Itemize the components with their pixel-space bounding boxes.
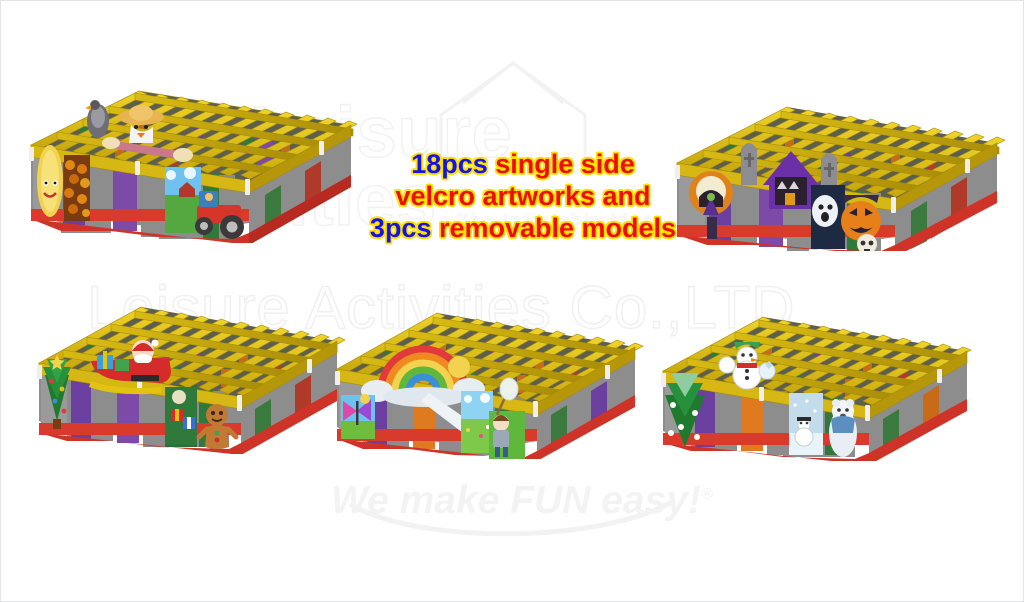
artwork-butterfly-kite xyxy=(341,394,375,439)
headline-seg-quantity-2: 3pcs xyxy=(370,213,439,243)
artwork-ghost xyxy=(811,185,845,249)
headline-seg-text-2: velcro artworks and xyxy=(395,181,650,211)
artwork-meadow-scene xyxy=(461,391,493,453)
artwork-snow-tree xyxy=(665,373,705,447)
artwork-snow-scene xyxy=(789,393,823,455)
maze-illustration-spring xyxy=(329,299,644,459)
artwork-polar-bear xyxy=(829,399,857,457)
headline-seg-quantity-1: 18pcs xyxy=(411,149,495,179)
artwork-gift-scene xyxy=(165,387,197,445)
registered-mark-icon: ® xyxy=(701,486,713,503)
maze-illustration-christmas xyxy=(31,289,346,454)
product-spring[interactable]: Spring xyxy=(329,299,644,464)
product-winter[interactable]: Winter xyxy=(651,301,976,466)
maze-illustration-halloween xyxy=(669,93,1009,251)
promo-headline: 18pcs single side velcro artworks and 3p… xyxy=(353,149,693,245)
headline-line-1: 18pcs single side xyxy=(353,149,693,181)
product-fall[interactable]: Fall xyxy=(19,83,364,248)
product-image-canvas: Leisure Activities The Inflatable Idea L… xyxy=(0,0,1024,602)
maze-illustration-fall xyxy=(19,83,364,243)
artwork-corn-cob xyxy=(37,145,63,217)
headline-seg-text-1: single side xyxy=(495,149,635,179)
watermark-slogan: We make FUN easy!® xyxy=(331,479,701,523)
headline-seg-text-3: removable models xyxy=(439,213,676,243)
product-halloween[interactable]: Halloween xyxy=(669,93,1009,256)
maze-illustration-winter xyxy=(651,301,976,461)
product-christmas[interactable]: Christmas xyxy=(31,289,346,459)
watermark-slogan-text: We make FUN easy! xyxy=(331,479,701,522)
headline-line-2: velcro artworks and xyxy=(353,181,693,213)
artwork-tombstone-left xyxy=(741,143,757,185)
artwork-pumpkin-pile xyxy=(64,155,90,221)
headline-line-3: 3pcs removable models xyxy=(353,213,693,245)
swoosh-icon xyxy=(346,498,676,538)
